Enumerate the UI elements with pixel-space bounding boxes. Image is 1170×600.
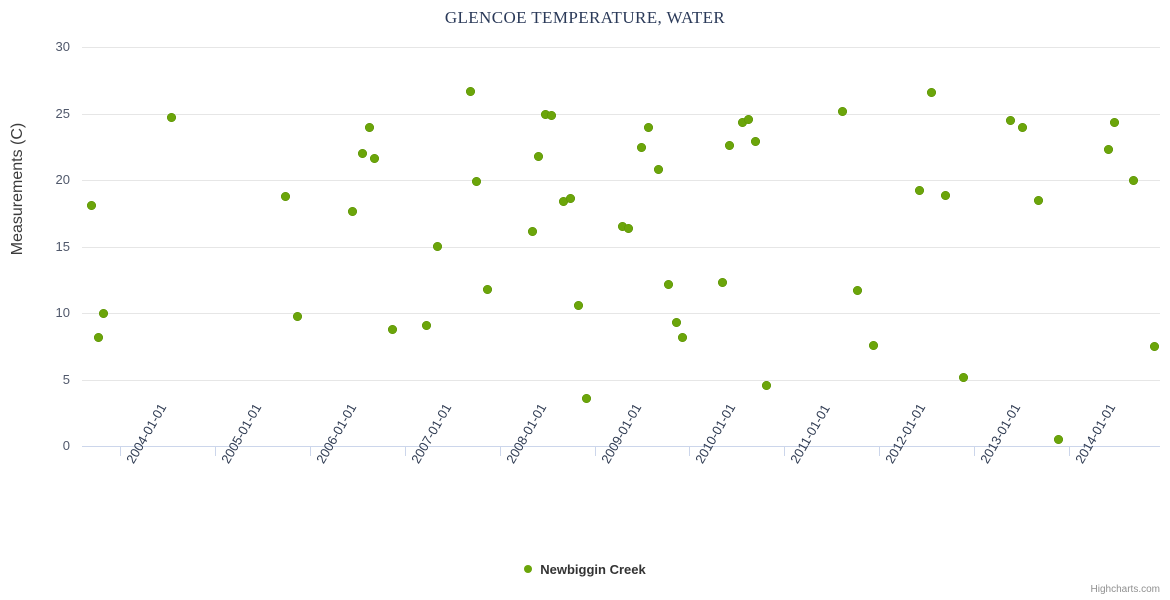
page-title: GLENCOE TEMPERATURE, WATER xyxy=(0,8,1170,28)
y-tick-label: 0 xyxy=(10,439,70,452)
scatter-point[interactable] xyxy=(1129,176,1138,185)
y-tick-label: 20 xyxy=(10,173,70,186)
scatter-point[interactable] xyxy=(751,137,760,146)
gridline xyxy=(82,380,1160,381)
scatter-point[interactable] xyxy=(167,113,176,122)
scatter-point[interactable] xyxy=(365,123,374,132)
scatter-point[interactable] xyxy=(1054,435,1063,444)
x-tick-mark xyxy=(120,447,121,456)
scatter-point[interactable] xyxy=(637,143,646,152)
highcharts-credit: Highcharts.com xyxy=(1091,584,1160,595)
scatter-point[interactable] xyxy=(941,191,950,200)
legend-item-newbiggin-creek[interactable]: Newbiggin Creek xyxy=(524,561,645,577)
scatter-point[interactable] xyxy=(293,312,302,321)
y-tick-label: 10 xyxy=(10,306,70,319)
y-tick-label: 15 xyxy=(10,240,70,253)
scatter-point[interactable] xyxy=(483,285,492,294)
scatter-point[interactable] xyxy=(664,280,673,289)
scatter-point[interactable] xyxy=(528,227,537,236)
scatter-point[interactable] xyxy=(472,177,481,186)
scatter-point[interactable] xyxy=(388,325,397,334)
x-tick-mark xyxy=(215,447,216,456)
scatter-point[interactable] xyxy=(672,318,681,327)
y-tick-label: 25 xyxy=(10,107,70,120)
scatter-point[interactable] xyxy=(547,111,556,120)
scatter-point[interactable] xyxy=(370,154,379,163)
scatter-point[interactable] xyxy=(534,152,543,161)
scatter-point[interactable] xyxy=(433,242,442,251)
scatter-point[interactable] xyxy=(1006,116,1015,125)
y-tick-label: 30 xyxy=(10,40,70,53)
scatter-point[interactable] xyxy=(466,87,475,96)
x-tick-mark xyxy=(595,447,596,456)
scatter-point[interactable] xyxy=(99,309,108,318)
legend-item-label: Newbiggin Creek xyxy=(540,562,645,577)
scatter-point[interactable] xyxy=(348,207,357,216)
gridline xyxy=(82,313,1160,314)
scatter-point[interactable] xyxy=(358,149,367,158)
scatter-point[interactable] xyxy=(959,373,968,382)
scatter-point[interactable] xyxy=(869,341,878,350)
gridline xyxy=(82,180,1160,181)
y-tick-label: 5 xyxy=(10,373,70,386)
x-tick-mark xyxy=(405,447,406,456)
scatter-point[interactable] xyxy=(582,394,591,403)
gridline xyxy=(82,247,1160,248)
scatter-point[interactable] xyxy=(566,194,575,203)
scatter-point[interactable] xyxy=(718,278,727,287)
scatter-point[interactable] xyxy=(644,123,653,132)
chart-legend: Newbiggin Creek xyxy=(0,561,1170,577)
x-tick-mark xyxy=(784,447,785,456)
scatter-point[interactable] xyxy=(927,88,936,97)
x-tick-mark xyxy=(879,447,880,456)
scatter-point[interactable] xyxy=(838,107,847,116)
gridline xyxy=(82,47,1160,48)
x-tick-mark xyxy=(974,447,975,456)
scatter-point[interactable] xyxy=(1018,123,1027,132)
scatter-point[interactable] xyxy=(574,301,583,310)
scatter-point[interactable] xyxy=(654,165,663,174)
scatter-point[interactable] xyxy=(725,141,734,150)
x-tick-mark xyxy=(310,447,311,456)
y-axis-tick-labels: 051015202530 xyxy=(0,47,70,446)
scatter-point[interactable] xyxy=(915,186,924,195)
scatter-point[interactable] xyxy=(678,333,687,342)
x-tick-mark xyxy=(500,447,501,456)
scatter-point[interactable] xyxy=(422,321,431,330)
scatter-point[interactable] xyxy=(281,192,290,201)
scatter-point[interactable] xyxy=(1110,118,1119,127)
scatter-point[interactable] xyxy=(1104,145,1113,154)
scatter-point[interactable] xyxy=(1150,342,1159,351)
scatter-point[interactable] xyxy=(762,381,771,390)
scatter-point[interactable] xyxy=(624,224,633,233)
x-tick-mark xyxy=(1069,447,1070,456)
legend-marker-icon xyxy=(524,565,532,573)
plot-area xyxy=(82,47,1160,446)
scatter-point[interactable] xyxy=(1034,196,1043,205)
scatter-point[interactable] xyxy=(853,286,862,295)
gridline xyxy=(82,114,1160,115)
highcharts-scatter-chart: GLENCOE TEMPERATURE, WATER Measurements … xyxy=(0,0,1170,600)
scatter-point[interactable] xyxy=(94,333,103,342)
scatter-point[interactable] xyxy=(744,115,753,124)
x-tick-mark xyxy=(689,447,690,456)
scatter-point[interactable] xyxy=(87,201,96,210)
